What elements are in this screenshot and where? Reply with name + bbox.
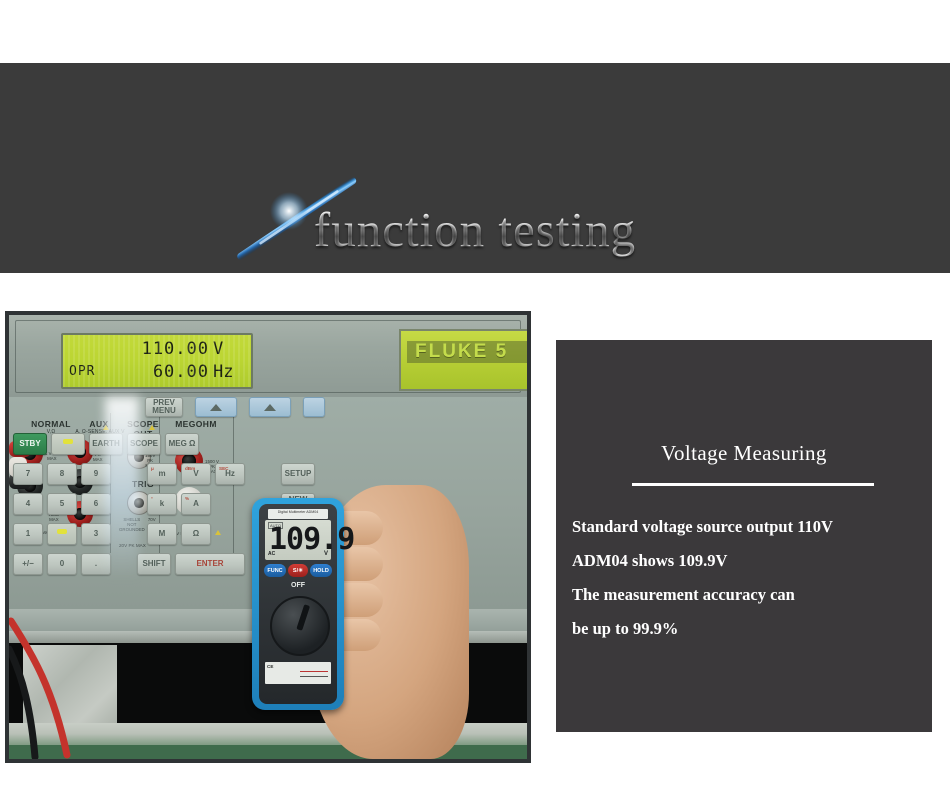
test-leads xyxy=(9,615,209,759)
calibrator-brand-display: FLUKE 5 xyxy=(399,329,531,391)
ce-mark-icon: CE xyxy=(267,664,273,669)
key-5[interactable]: 5 xyxy=(47,493,77,515)
key-0[interactable]: 0 xyxy=(47,553,77,575)
trig-note-shells: SHELLSNOTGROUNDED xyxy=(119,517,145,532)
dmm-off-label: OFF xyxy=(259,582,337,589)
banner-title: function testing xyxy=(0,201,950,258)
key-setup[interactable]: SETUP xyxy=(281,463,315,485)
dmm-face: Digital Multimeter ADM04 AUTO 109.9 AC V… xyxy=(259,504,337,704)
panel-body: Standard voltage source output 110V ADM0… xyxy=(572,516,924,652)
dmm-light-button[interactable]: S/☀ xyxy=(288,564,308,577)
dmm-ac-indicator: AC xyxy=(268,551,275,557)
panel-line-4: be up to 99.9% xyxy=(572,618,924,639)
key-7[interactable]: 7 xyxy=(13,463,43,485)
photo-stage: 110.00 V OPR 60.00 Hz FLUKE 5 NORMAL V,Ω… xyxy=(9,315,527,759)
dmm-hold-button[interactable]: HOLD xyxy=(310,564,332,577)
key-3[interactable]: 3 xyxy=(81,523,111,545)
digital-multimeter: Digital Multimeter ADM04 AUTO 109.9 AC V… xyxy=(252,498,344,710)
scope-warning-icon xyxy=(149,425,155,430)
key-9[interactable]: 9 xyxy=(81,463,111,485)
key-v[interactable]: dBmV xyxy=(181,463,211,485)
dial-pointer xyxy=(296,604,310,631)
key-1[interactable]: 1 xyxy=(13,523,43,545)
panel-line-2: ADM04 shows 109.9V xyxy=(572,550,924,571)
key-8[interactable]: 8 xyxy=(47,463,77,485)
megohm-label: MEGOHM xyxy=(161,419,231,429)
key-meg-ohm[interactable]: MEG Ω xyxy=(165,433,199,455)
key-plus-minus[interactable]: +/− xyxy=(13,553,43,575)
dmm-display: AUTO 109.9 AC V xyxy=(265,520,331,560)
key-k[interactable]: °k xyxy=(147,493,177,515)
header-banner: function testing xyxy=(0,63,950,273)
key-stby[interactable]: STBY xyxy=(13,433,47,455)
key-earth[interactable]: EARTH xyxy=(89,433,123,455)
banner-inner: function testing xyxy=(0,63,950,273)
fluke-brand-label: FLUKE 5 xyxy=(415,341,508,363)
key-shift[interactable]: SHIFT xyxy=(137,553,171,575)
dmm-rotary-dial[interactable] xyxy=(270,596,330,656)
dmm-unit: V xyxy=(324,551,328,557)
dmm-rating-label: CE xyxy=(265,662,331,684)
key-m[interactable]: μm xyxy=(147,463,177,485)
lcd-glass-overlay xyxy=(63,335,251,387)
voltage-measuring-photo: 110.00 V OPR 60.00 Hz FLUKE 5 NORMAL V,Ω… xyxy=(5,311,531,763)
key-ohm[interactable]: Ω xyxy=(181,523,211,545)
key-arrow-extra[interactable] xyxy=(303,397,325,417)
panel-line-3: The measurement accuracy can xyxy=(572,584,924,605)
panel-line-1: Standard voltage source output 110V xyxy=(572,516,924,537)
panel-title: Voltage Measuring xyxy=(556,441,932,466)
key-6[interactable]: 6 xyxy=(81,493,111,515)
key-4[interactable]: 4 xyxy=(13,493,43,515)
key-mega[interactable]: M xyxy=(147,523,177,545)
dmm-brand-label: Digital Multimeter ADM04 xyxy=(268,509,328,519)
calibrator-lcd: 110.00 V OPR 60.00 Hz xyxy=(61,333,253,389)
key-scope[interactable]: SCOPE xyxy=(127,433,161,455)
key-prev-menu[interactable]: PREVMENU xyxy=(145,397,183,417)
key-arrow-up-2[interactable] xyxy=(249,397,291,417)
aux-warning-icon xyxy=(103,425,109,430)
dmm-func-button[interactable]: FUNC xyxy=(264,564,286,577)
key-hz[interactable]: SECHz xyxy=(215,463,245,485)
key-arrow-up-1[interactable] xyxy=(195,397,237,417)
dmm-reading: 109.9 xyxy=(269,523,329,557)
key-dot[interactable]: . xyxy=(81,553,111,575)
scope-note-20v: 20V PK MAX xyxy=(119,543,146,548)
panel-title-underline xyxy=(632,483,874,486)
panel-divider-3 xyxy=(233,413,234,563)
description-panel: Voltage Measuring Standard voltage sourc… xyxy=(556,340,932,732)
key-a[interactable]: %A xyxy=(181,493,211,515)
key-lamp[interactable] xyxy=(51,433,85,455)
key-enter[interactable]: ENTER xyxy=(175,553,245,575)
megohm-warning-icon xyxy=(215,530,221,535)
key-2[interactable] xyxy=(47,523,77,545)
